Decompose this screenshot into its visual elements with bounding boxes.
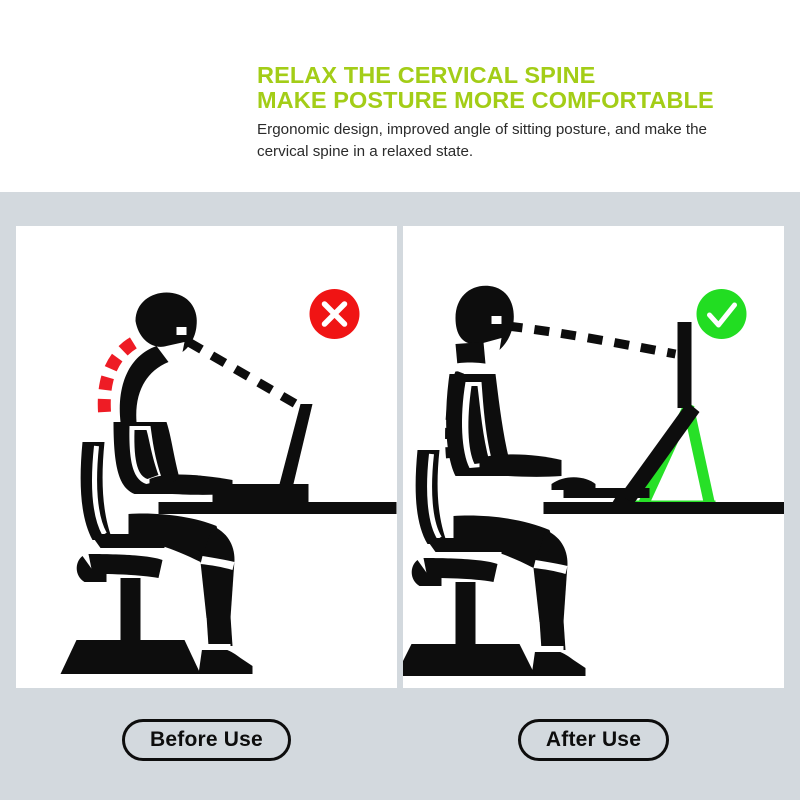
after-use-illustration [403, 226, 784, 688]
label-cell-before: Before Use [16, 710, 397, 770]
before-use-illustration [16, 226, 397, 688]
headline-line-1: RELAX THE CERVICAL SPINE [257, 62, 595, 88]
seated-person-figure [61, 292, 253, 674]
laptop-icon [173, 404, 313, 502]
header-section: RELAX THE CERVICAL SPINE MAKE POSTURE MO… [0, 0, 800, 192]
laptop-stand-setup [552, 322, 716, 508]
desk-surface [159, 502, 397, 514]
comparison-section: Before Use After Use [0, 192, 800, 800]
comparison-panels [16, 226, 784, 688]
header-text-block: RELAX THE CERVICAL SPINE MAKE POSTURE MO… [257, 63, 777, 163]
headline-line-2: MAKE POSTURE MORE COMFORTABLE [257, 88, 777, 113]
sight-line-dashed [508, 326, 676, 354]
page-subtitle: Ergonomic design, improved angle of sitt… [257, 119, 757, 163]
panel-before-use [16, 226, 397, 688]
desk-surface [544, 502, 785, 514]
badge-after-use[interactable]: After Use [518, 719, 669, 761]
cross-circle-icon [310, 289, 360, 339]
badge-before-use[interactable]: Before Use [122, 719, 291, 761]
label-cell-after: After Use [403, 710, 784, 770]
sight-line-dashed [189, 342, 305, 409]
product-infographic-page: RELAX THE CERVICAL SPINE MAKE POSTURE MO… [0, 0, 800, 800]
panel-after-use [403, 226, 784, 688]
comparison-labels: Before Use After Use [16, 710, 784, 770]
page-title: RELAX THE CERVICAL SPINE MAKE POSTURE MO… [257, 63, 777, 113]
laptop-icon [552, 322, 700, 508]
check-circle-icon [697, 289, 747, 339]
